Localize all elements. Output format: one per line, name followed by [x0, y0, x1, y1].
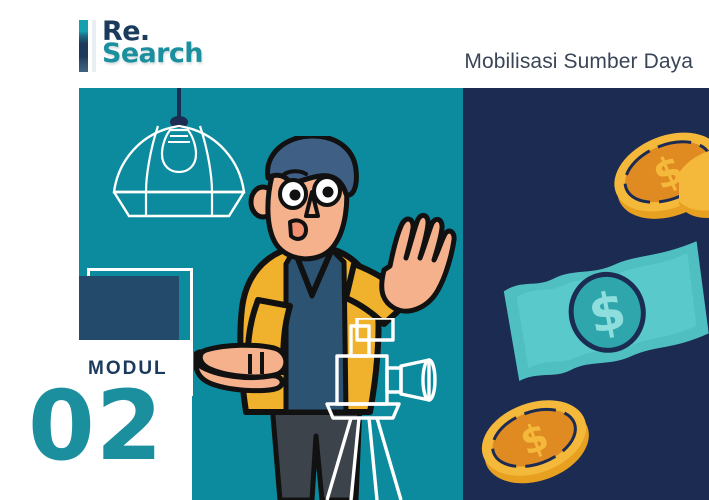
logo-wordmark: Re. Search: [102, 20, 232, 76]
coin-edge-right: [679, 140, 709, 225]
logo-text-search: Search: [102, 40, 203, 67]
camera-tripod-icon: [307, 318, 467, 500]
gradient-bar-icon: [79, 20, 88, 72]
module-cover-page: Re. Search Mobilisasi Sumber Daya: [0, 0, 709, 500]
module-badge: MODUL 02: [0, 340, 192, 500]
logo-divider: [92, 20, 96, 72]
page-title: Mobilisasi Sumber Daya: [464, 50, 693, 74]
brand-logo[interactable]: Re. Search: [79, 20, 232, 76]
banknote: $: [499, 236, 709, 386]
coin-bottom: $: [474, 386, 594, 491]
module-number: 02: [28, 378, 164, 474]
page-header: Re. Search Mobilisasi Sumber Daya: [0, 0, 709, 88]
